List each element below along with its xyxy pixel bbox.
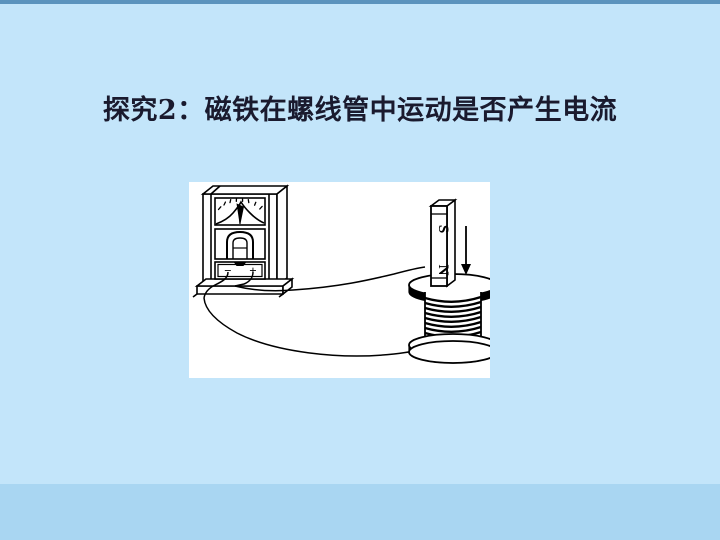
experiment-figure: − + [189,182,490,378]
decorative-circle-band [0,484,720,540]
experiment-diagram-svg: − + [189,182,490,378]
magnet-pole-n: N [435,265,451,276]
slide-canvas: 探究2：磁铁在螺线管中运动是否产生电流 [0,0,720,540]
wire-lower [204,298,428,356]
page-title: 探究2：磁铁在螺线管中运动是否产生电流 [0,93,720,129]
galvanometer-icon [193,186,292,297]
top-accent-rule [0,0,720,4]
motion-arrow-down-icon [461,226,471,275]
solenoid-icon [409,274,490,363]
decorative-band-background [0,484,720,540]
magnet-pole-s: S [435,225,451,233]
